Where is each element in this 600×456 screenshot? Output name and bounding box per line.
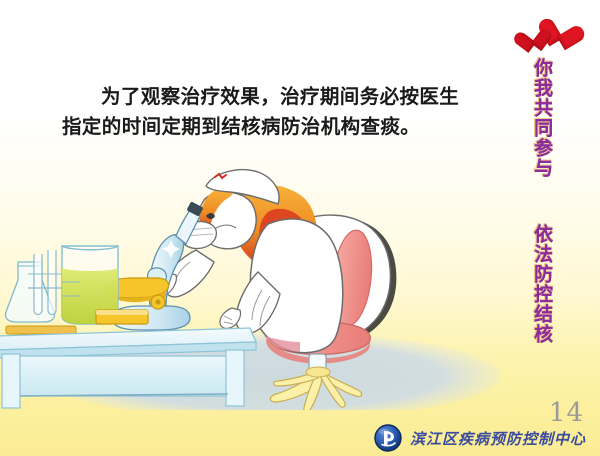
- heart-small-icon: [512, 28, 541, 57]
- headline-text: 为了观察治疗效果，治疗期间务必按医生 指定的时间定期到结核病防治机构查痰。: [62, 82, 482, 142]
- desk-panel: [14, 356, 230, 396]
- desk-leg-left: [2, 354, 20, 408]
- footer-branding: 滨江区疾病预防控制中心: [374, 424, 586, 452]
- organization-name: 滨江区疾病预防控制中心: [410, 428, 586, 449]
- flask: [5, 262, 54, 322]
- slide-canvas: 为了观察治疗效果，治疗期间务必按医生 指定的时间定期到结核病防治机构查痰。 你我…: [0, 0, 600, 456]
- headline-line-1: 为了观察治疗效果，治疗期间务必按医生: [62, 82, 482, 112]
- hearts-icon: [508, 16, 580, 64]
- desk-leg-right: [226, 350, 244, 406]
- desk: [0, 328, 256, 408]
- cdc-logo-icon: [374, 424, 402, 452]
- headline-line-2: 指定的时间定期到结核病防治机构查痰。: [62, 112, 482, 142]
- sample-tray: [6, 326, 76, 334]
- glassware: [0, 150, 148, 334]
- illustration-lab-technician: [0, 150, 600, 410]
